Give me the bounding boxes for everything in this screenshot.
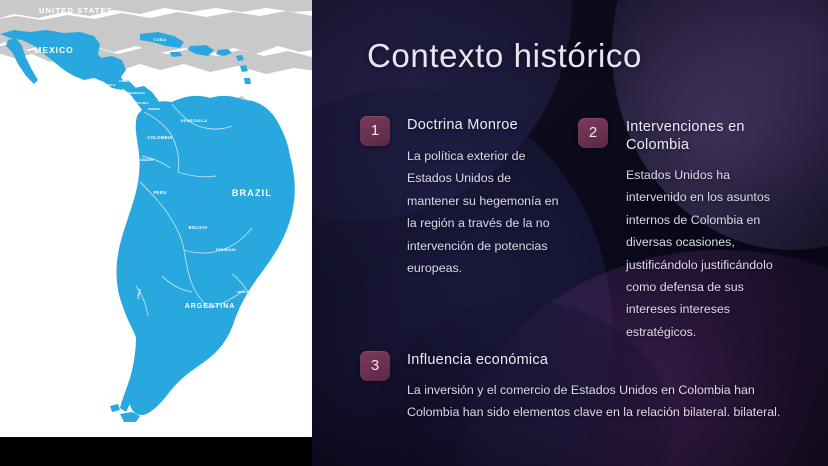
latin-america-map: UNITED STATES MEXICO CUBA GUATEMALA HOND… <box>0 0 312 437</box>
bottom-letterbox-bar <box>0 437 312 466</box>
block-number-badge-1: 1 <box>360 116 390 146</box>
map-label-uruguay: URUGUAY <box>237 290 252 294</box>
map-label-brazil: BRAZIL <box>232 188 272 198</box>
map-label-nicaragua: NICARAGUA <box>127 91 146 95</box>
map-label-mexico: MEXICO <box>34 45 74 55</box>
map-label-argentina: ARGENTINA <box>185 303 236 310</box>
map-label-paraguay: PARAGUAY <box>216 248 237 252</box>
map-label-honduras: HONDURAS <box>119 79 136 83</box>
block-heading-2: Intervenciones en Colombia <box>626 118 786 154</box>
map-label-ecuador: ECUADOR <box>135 158 154 162</box>
map-label-panama: PANAMA <box>148 107 160 111</box>
block-body-2: Intervenciones en Colombia Estados Unido… <box>626 118 786 343</box>
map-label-cuba: CUBA <box>153 37 166 42</box>
map-label-venezuela: VENEZUELA <box>181 118 208 123</box>
block-number-badge-3: 3 <box>360 351 390 381</box>
block-body-1: Doctrina Monroe La política exterior de … <box>407 116 562 279</box>
block-body-3: Influencia económica La inversión y el c… <box>407 351 807 424</box>
block-heading-1: Doctrina Monroe <box>407 116 562 134</box>
map-label-peru: PERU <box>154 190 167 195</box>
block-number-badge-2: 2 <box>578 118 608 148</box>
block-heading-3: Influencia económica <box>407 351 807 369</box>
map-label-bolivia: BOLIVIA <box>188 225 207 230</box>
block-text-1: La política exterior de Estados Unidos d… <box>407 145 562 279</box>
page-title: Contexto histórico <box>367 37 642 75</box>
block-text-2: Estados Unidos ha intervenido en los asu… <box>626 164 786 343</box>
block-text-3: La inversión y el comercio de Estados Un… <box>407 379 807 424</box>
map-label-guatemala: GUATEMALA <box>97 83 117 87</box>
slide-canvas: UNITED STATES MEXICO CUBA GUATEMALA HOND… <box>0 0 828 466</box>
map-panel: UNITED STATES MEXICO CUBA GUATEMALA HOND… <box>0 0 312 437</box>
map-label-costa-rica: COSTA RICA <box>131 101 148 105</box>
content-panel: Contexto histórico 1 Doctrina Monroe La … <box>312 0 828 466</box>
map-label-colombia: COLOMBIA <box>147 135 172 140</box>
map-label-united-states: UNITED STATES <box>39 6 113 15</box>
